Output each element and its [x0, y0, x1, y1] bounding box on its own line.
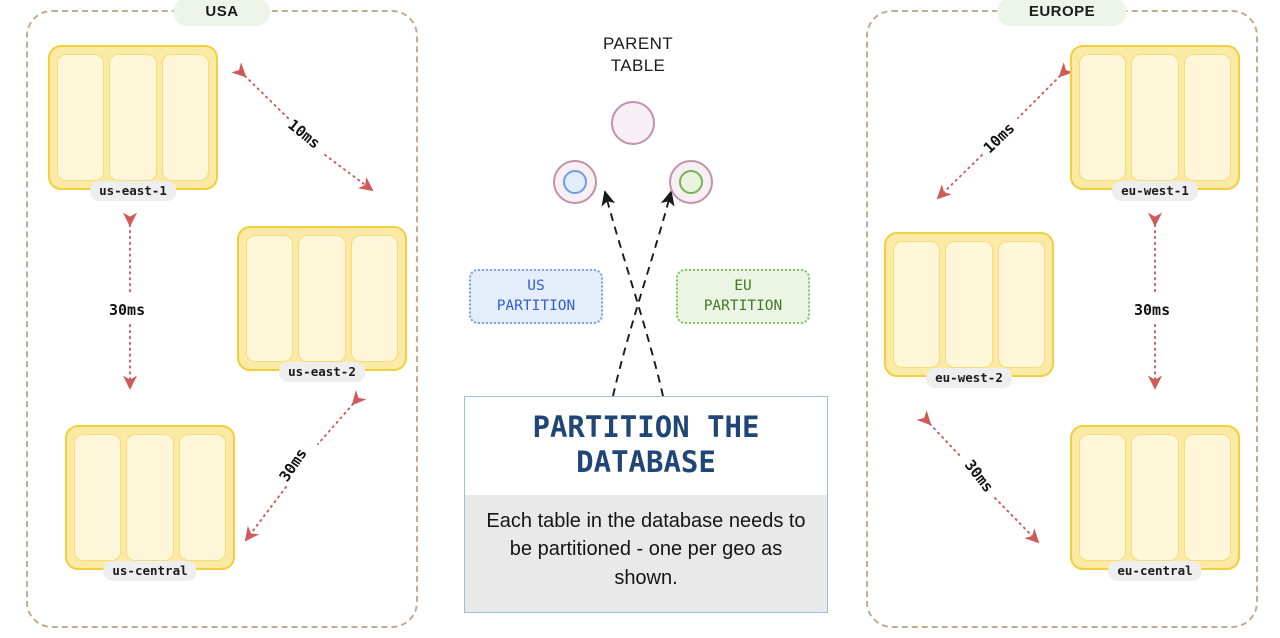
rack-label: us-east-2 — [279, 362, 365, 382]
us-partition-node[interactable] — [553, 160, 597, 204]
rack-us-east-1[interactable]: us-east-1 — [48, 45, 218, 190]
rack-slot — [1079, 54, 1126, 181]
us-partition-core — [563, 170, 587, 194]
rack-us-east-2[interactable]: us-east-2 — [237, 226, 407, 371]
callout-to-eu-partition-curve — [613, 192, 671, 396]
rack-body — [1070, 425, 1240, 570]
rack-slot — [945, 241, 992, 368]
rack-label: eu-west-1 — [1112, 181, 1198, 201]
rack-slot — [998, 241, 1045, 368]
callout-title: PARTITION THE DATABASE — [465, 397, 827, 495]
callout-body: Each table in the database needs to be p… — [465, 495, 827, 612]
rack-slot — [109, 54, 156, 181]
rack-label: eu-west-2 — [926, 368, 1012, 388]
rack-eu-west-2[interactable]: eu-west-2 — [884, 232, 1054, 377]
callout-box: PARTITION THE DATABASE Each table in the… — [464, 396, 828, 613]
latency-label-eu-west-1-eu-central: 30ms — [1131, 300, 1173, 320]
rack-label: us-central — [103, 561, 196, 581]
parent-table-node[interactable] — [611, 101, 655, 145]
us-partition-tag[interactable]: US PARTITION — [469, 269, 603, 324]
rack-slot — [179, 434, 226, 561]
parent-table-caption: PARENT TABLE — [563, 33, 713, 77]
rack-slot — [1131, 54, 1178, 181]
rack-slot — [351, 235, 398, 362]
rack-body — [237, 226, 407, 371]
rack-body — [48, 45, 218, 190]
rack-slot — [57, 54, 104, 181]
geo-panel-title-usa: USA — [173, 0, 270, 26]
rack-slot — [126, 434, 173, 561]
eu-partition-tag[interactable]: EU PARTITION — [676, 269, 810, 324]
geo-panel-title-europe: EUROPE — [997, 0, 1127, 26]
rack-label: us-east-1 — [90, 181, 176, 201]
callout-to-us-partition-curve — [605, 192, 663, 396]
latency-label-us-east-1-us-central: 30ms — [106, 300, 148, 320]
rack-slot — [74, 434, 121, 561]
rack-eu-central[interactable]: eu-central — [1070, 425, 1240, 570]
rack-slot — [298, 235, 345, 362]
rack-slot — [1184, 434, 1231, 561]
rack-body — [884, 232, 1054, 377]
rack-slot — [162, 54, 209, 181]
rack-eu-west-1[interactable]: eu-west-1 — [1070, 45, 1240, 190]
eu-partition-core — [679, 170, 703, 194]
rack-slot — [1184, 54, 1231, 181]
rack-slot — [1131, 434, 1178, 561]
rack-label: eu-central — [1108, 561, 1201, 581]
rack-slot — [1079, 434, 1126, 561]
rack-slot — [893, 241, 940, 368]
diagram-canvas: USA us-east-1 us-east-2 us-central 10ms … — [0, 0, 1280, 638]
eu-partition-node[interactable] — [669, 160, 713, 204]
rack-slot — [246, 235, 293, 362]
rack-us-central[interactable]: us-central — [65, 425, 235, 570]
rack-body — [1070, 45, 1240, 190]
rack-body — [65, 425, 235, 570]
